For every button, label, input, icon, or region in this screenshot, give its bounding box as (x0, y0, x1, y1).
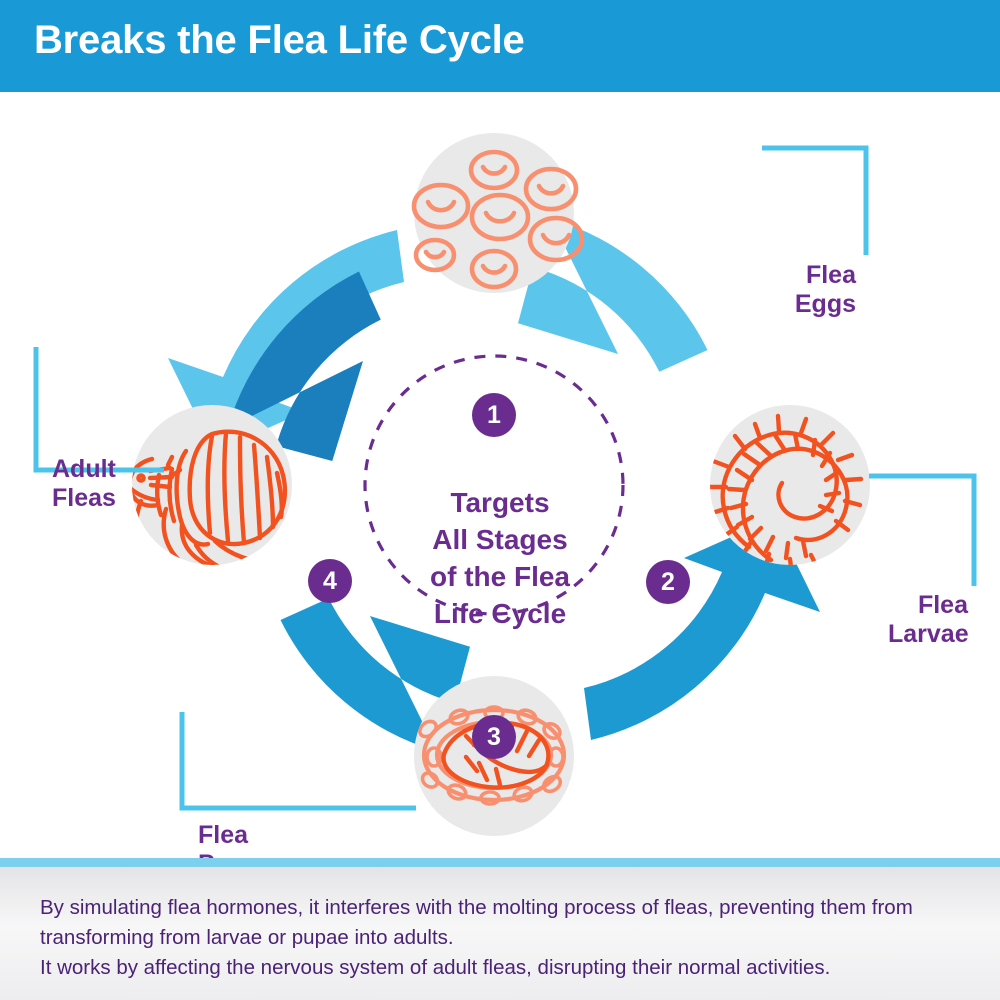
header-bar: Breaks the Flea Life Cycle (0, 0, 1000, 92)
bracket-eggs (762, 148, 866, 255)
stage-label-flea-larvae: Flea Larvae (888, 591, 968, 649)
center-headline: Targets All Stages of the Flea Life Cycl… (390, 485, 610, 633)
footer-panel: By simulating flea hormones, it interfer… (0, 867, 1000, 1000)
infographic-page: Breaks the Flea Life Cycle (0, 0, 1000, 1000)
step-badge-2[interactable]: 2 (646, 560, 690, 604)
stage-circle-eggs[interactable] (414, 133, 582, 293)
stage-label-adult-fleas: Adult Fleas (52, 455, 162, 513)
step-badge-3[interactable]: 3 (472, 715, 516, 759)
footer-description: By simulating flea hormones, it interfer… (40, 893, 970, 983)
step-badge-1[interactable]: 1 (472, 393, 516, 437)
bracket-larvae (869, 476, 974, 586)
stage-label-flea-eggs: Flea Eggs (782, 261, 856, 319)
step-badge-4[interactable]: 4 (308, 559, 352, 603)
footer-accent-strip (0, 858, 1000, 867)
flea-life-cycle-diagram: Flea Eggs Flea Larvae Flea Pupae Adult F… (0, 97, 1000, 854)
page-title: Breaks the Flea Life Cycle (34, 18, 525, 63)
